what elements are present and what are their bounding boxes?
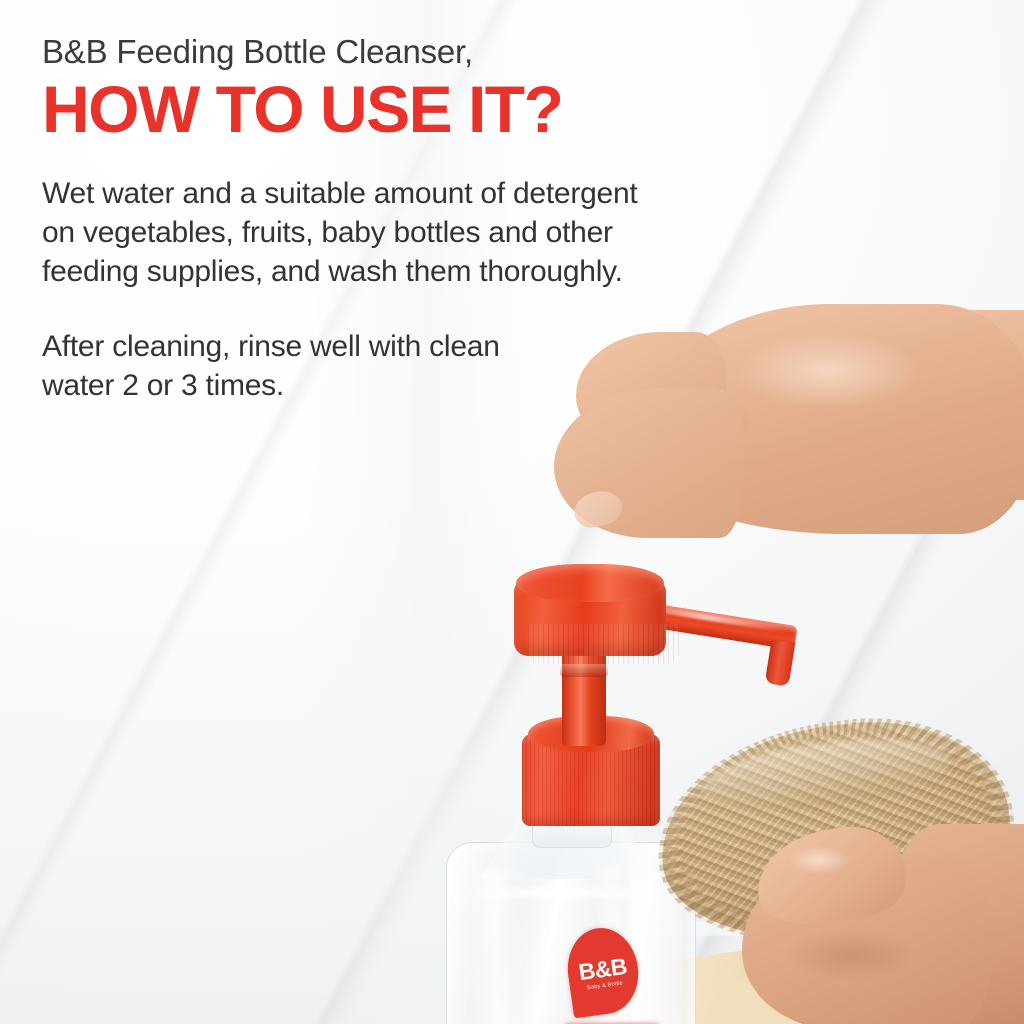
text-block: B&B Feeding Bottle Cleanser, HOW TO USE …: [42, 34, 812, 405]
bottle-highlight-left: [470, 872, 524, 1024]
lower-hand-shading: [762, 920, 942, 990]
pump-head-ridges: [528, 624, 680, 664]
instruction-card: B&B Baby & Bottle: [0, 0, 1024, 1024]
instruction-line: on vegetables, fruits, baby bottles and …: [42, 213, 812, 252]
page-title: HOW TO USE IT?: [42, 76, 812, 143]
instruction-line: Wet water and a suitable amount of deter…: [42, 174, 812, 213]
pump-spout-tip: [765, 639, 796, 686]
thumb-highlight: [776, 840, 862, 880]
hand-holding-loofah: [742, 800, 1024, 1024]
pump-stem-ring: [560, 664, 608, 677]
instruction-line: After cleaning, rinse well with clean: [42, 327, 812, 366]
eyebrow-title: B&B Feeding Bottle Cleanser,: [42, 34, 812, 70]
instruction-step-rinse: After cleaning, rinse well with clean wa…: [42, 327, 812, 405]
instruction-step-wash: Wet water and a suitable amount of deter…: [42, 174, 812, 291]
instruction-line: feeding supplies, and wash them thorough…: [42, 252, 812, 291]
instruction-line: water 2 or 3 times.: [42, 366, 812, 405]
